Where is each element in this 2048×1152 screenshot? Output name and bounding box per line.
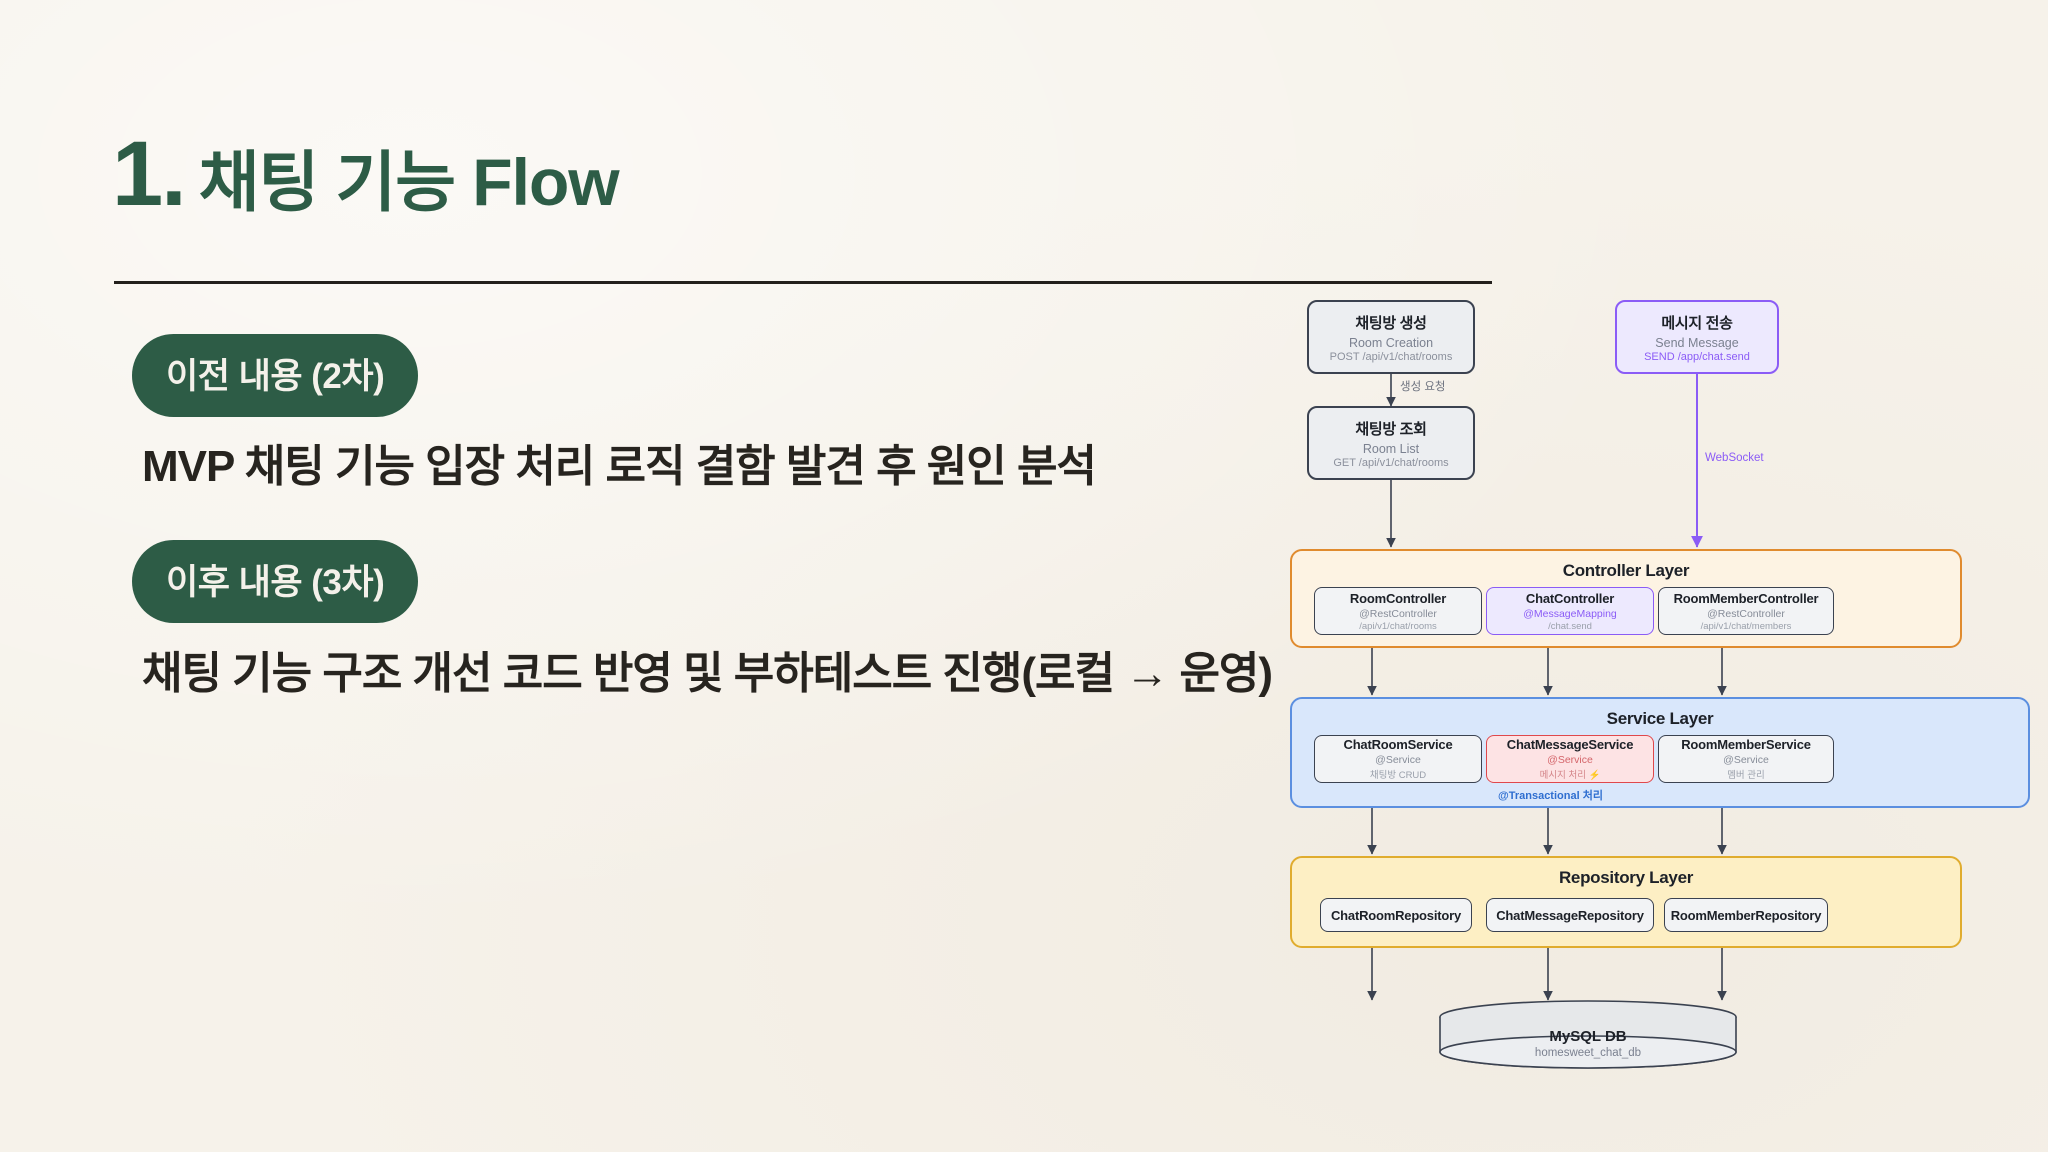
node-subtitle: Room Creation — [1349, 336, 1433, 350]
component-chat-message-service[interactable]: ChatMessageService @Service 메시지 처리 ⚡ — [1486, 735, 1654, 783]
node-send-message[interactable]: 메시지 전송 Send Message SEND /app/chat.send — [1615, 300, 1779, 374]
component-title: ChatMessageService — [1507, 737, 1633, 752]
component-annotation: @Service — [1547, 754, 1593, 766]
architecture-diagram: 채팅방 생성 Room Creation POST /api/v1/chat/r… — [1290, 300, 2030, 1150]
layer-title: Controller Layer — [1292, 561, 1960, 581]
component-room-member-controller[interactable]: RoomMemberController @RestController /ap… — [1658, 587, 1834, 635]
title-number: 1. — [112, 128, 185, 220]
component-title: ChatController — [1526, 591, 1614, 606]
component-room-member-service[interactable]: RoomMemberService @Service 멤버 관리 — [1658, 735, 1834, 783]
title-text: 채팅 기능 Flow — [199, 149, 619, 215]
database-cylinder[interactable]: MySQL DB homesweet_chat_db — [1438, 1000, 1738, 1070]
layer-title: Service Layer — [1292, 709, 2028, 729]
node-title: 채팅방 조회 — [1355, 418, 1426, 439]
node-subtitle: Send Message — [1655, 336, 1738, 350]
component-title: ChatMessageRepository — [1496, 908, 1644, 923]
component-note: 메시지 처리 ⚡ — [1540, 767, 1601, 781]
database-schema: homesweet_chat_db — [1438, 1047, 1738, 1059]
node-endpoint: POST /api/v1/chat/rooms — [1330, 351, 1453, 363]
component-annotation: @Service — [1723, 754, 1769, 766]
node-room-list[interactable]: 채팅방 조회 Room List GET /api/v1/chat/rooms — [1307, 406, 1475, 480]
node-room-creation[interactable]: 채팅방 생성 Room Creation POST /api/v1/chat/r… — [1307, 300, 1475, 374]
component-annotation: @Service — [1375, 754, 1421, 766]
component-note: /api/v1/chat/members — [1701, 621, 1792, 632]
node-title: 채팅방 생성 — [1355, 312, 1426, 333]
component-chat-message-repository[interactable]: ChatMessageRepository — [1486, 898, 1654, 932]
component-title: ChatRoomRepository — [1331, 908, 1461, 923]
component-room-controller[interactable]: RoomController @RestController /api/v1/c… — [1314, 587, 1482, 635]
component-annotation: @RestController — [1707, 608, 1785, 620]
page-title: 1. 채팅 기능 Flow — [112, 128, 619, 220]
component-title: RoomMemberService — [1681, 737, 1811, 752]
component-chat-room-repository[interactable]: ChatRoomRepository — [1320, 898, 1472, 932]
slide-root: 1. 채팅 기능 Flow 이전 내용 (2차) MVP 채팅 기능 입장 처리… — [0, 0, 2048, 1152]
node-subtitle: Room List — [1363, 442, 1419, 456]
node-endpoint: SEND /app/chat.send — [1644, 351, 1750, 363]
component-note: /chat.send — [1548, 621, 1592, 632]
node-title: 메시지 전송 — [1661, 312, 1732, 333]
layer-repository: Repository Layer ChatRoomRepository Chat… — [1290, 856, 1962, 948]
component-note: 채팅방 CRUD — [1370, 767, 1426, 781]
title-divider — [114, 281, 1492, 284]
transactional-note: @Transactional 처리 — [1498, 787, 1603, 803]
component-note: 멤버 관리 — [1727, 767, 1765, 781]
node-endpoint: GET /api/v1/chat/rooms — [1333, 457, 1448, 469]
badge-next: 이후 내용 (3차) — [132, 540, 418, 623]
layer-controller: Controller Layer RoomController @RestCon… — [1290, 549, 1962, 648]
layer-title: Repository Layer — [1292, 868, 1960, 888]
summary-line-next: 채팅 기능 구조 개선 코드 반영 및 부하테스트 진행(로컬 → 운영) — [142, 637, 1272, 701]
component-chat-room-service[interactable]: ChatRoomService @Service 채팅방 CRUD — [1314, 735, 1482, 783]
database-title: MySQL DB — [1438, 1028, 1738, 1045]
summary-line-previous: MVP 채팅 기능 입장 처리 로직 결함 발견 후 원인 분석 — [142, 430, 1096, 494]
component-annotation: @RestController — [1359, 608, 1437, 620]
component-chat-controller[interactable]: ChatController @MessageMapping /chat.sen… — [1486, 587, 1654, 635]
edge-label-websocket: WebSocket — [1705, 452, 1764, 464]
badge-previous: 이전 내용 (2차) — [132, 334, 418, 417]
component-room-member-repository[interactable]: RoomMemberRepository — [1664, 898, 1828, 932]
database-label: MySQL DB homesweet_chat_db — [1438, 1028, 1738, 1059]
component-title: RoomMemberRepository — [1671, 908, 1822, 923]
component-note: /api/v1/chat/rooms — [1359, 621, 1437, 632]
component-title: ChatRoomService — [1344, 737, 1453, 752]
layer-service: Service Layer ChatRoomService @Service 채… — [1290, 697, 2030, 808]
component-title: RoomMemberController — [1674, 591, 1819, 606]
component-annotation: @MessageMapping — [1523, 608, 1617, 620]
component-title: RoomController — [1350, 591, 1446, 606]
edge-label-create-request: 생성 요청 — [1400, 378, 1446, 394]
